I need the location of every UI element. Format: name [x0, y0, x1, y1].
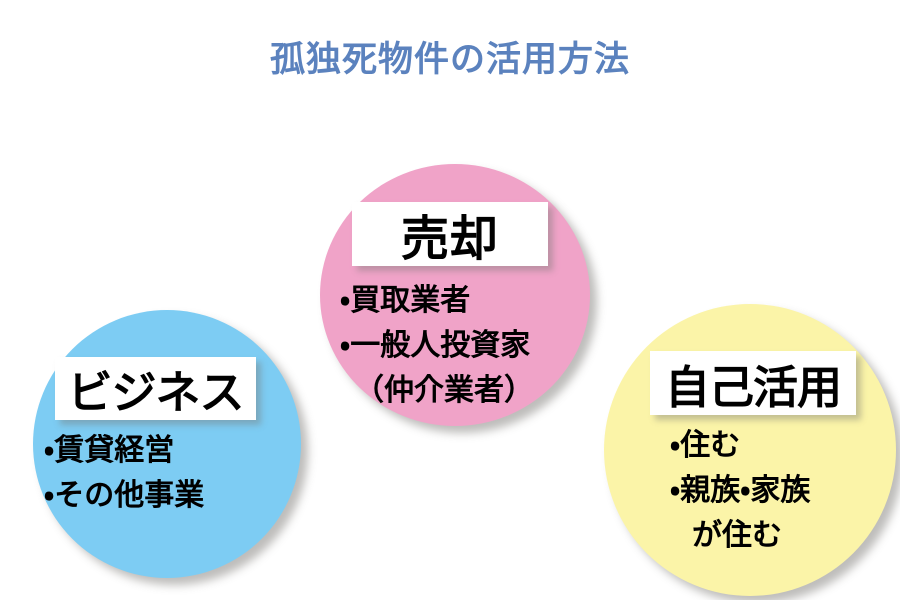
bullet-list-sale: ・買取業者 ・一般人投資家 （仲介業者） — [340, 278, 534, 413]
label-selfuse: 自己活用 — [665, 351, 841, 416]
label-business: ビジネス — [67, 356, 243, 421]
bullet-item: ・その他事業 — [44, 473, 204, 518]
page-title: 孤独死物件の活用方法 — [0, 38, 900, 82]
label-plate-business: ビジネス — [55, 357, 256, 420]
bullet-item: ・親族・家族 — [670, 468, 810, 513]
bullet-item: ・一般人投資家 — [340, 323, 534, 368]
bullet-item: ・買取業者 — [340, 278, 534, 323]
bullet-item-continuation: が住む — [670, 513, 810, 558]
bullet-list-selfuse: ・住む ・親族・家族 が住む — [670, 423, 810, 558]
infographic-canvas: 孤独死物件の活用方法 ビジネス ・賃貸経営 ・その他事業 売却 ・買取業者 ・一… — [0, 0, 900, 600]
bullet-item-continuation: （仲介業者） — [340, 368, 534, 413]
label-sale: 売却 — [401, 199, 499, 269]
label-plate-selfuse: 自己活用 — [650, 351, 856, 415]
label-plate-sale: 売却 — [352, 202, 548, 266]
bullet-item: ・賃貸経営 — [44, 428, 204, 473]
bullet-item: ・住む — [670, 423, 810, 468]
bullet-list-business: ・賃貸経営 ・その他事業 — [44, 428, 204, 518]
